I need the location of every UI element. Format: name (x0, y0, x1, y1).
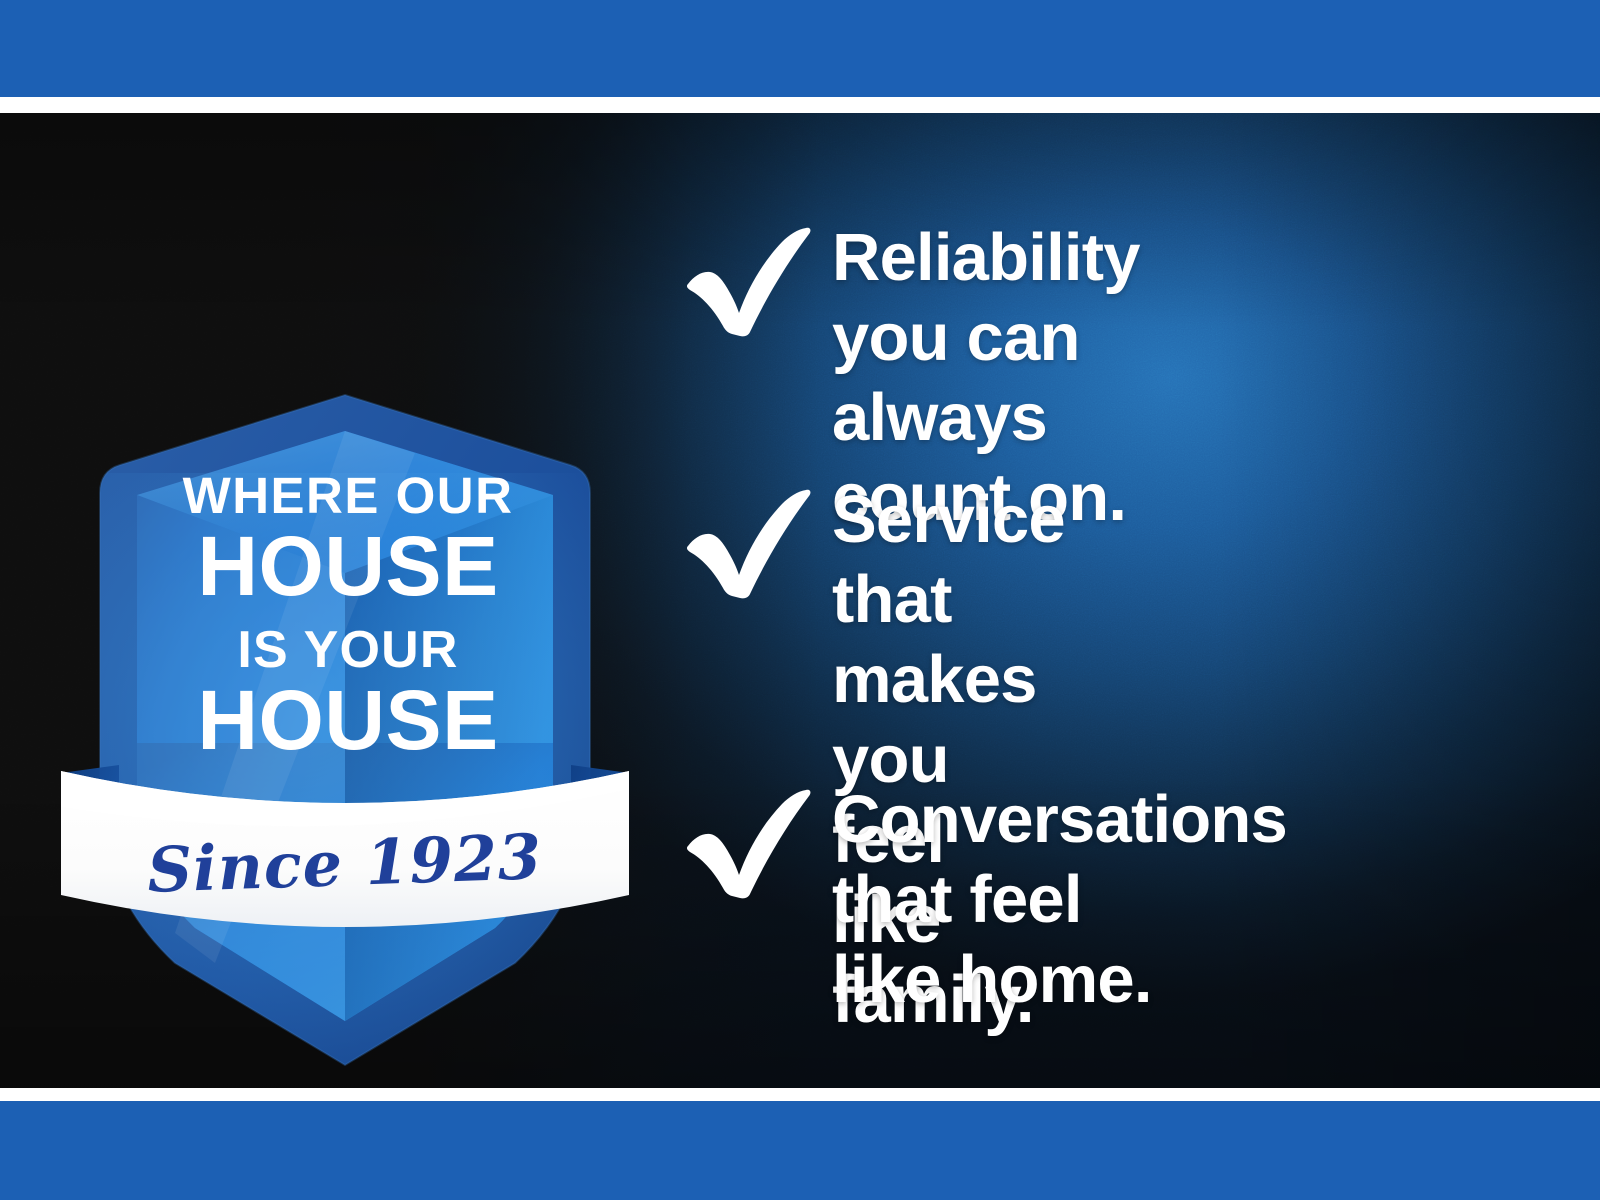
bottom-brand-band (0, 1101, 1600, 1200)
artwork-stage: WHERE OUR WHERE OUR HOUSE IS YOUR HOUSE … (0, 113, 1600, 1088)
checkmark-icon (682, 226, 814, 338)
list-item-label: Conversations that feel like home. (832, 780, 1287, 1020)
shield-text-line2: HOUSE (197, 519, 498, 613)
shield-text-line4: HOUSE (197, 673, 498, 767)
checkmark-icon (682, 788, 814, 900)
ribbon-script-text: Since 1923 (146, 820, 543, 907)
bottom-divider-stripe (0, 1088, 1600, 1101)
shield-text-line3: IS YOUR (237, 621, 458, 679)
promotional-graphic: WHERE OUR WHERE OUR HOUSE IS YOUR HOUSE … (0, 0, 1600, 1200)
shield-text-line1: WHERE OUR (183, 467, 514, 524)
brand-emblem: WHERE OUR WHERE OUR HOUSE IS YOUR HOUSE … (45, 273, 645, 1083)
top-brand-band (0, 0, 1600, 97)
checkmark-icon (682, 488, 814, 600)
top-divider-stripe (0, 97, 1600, 113)
